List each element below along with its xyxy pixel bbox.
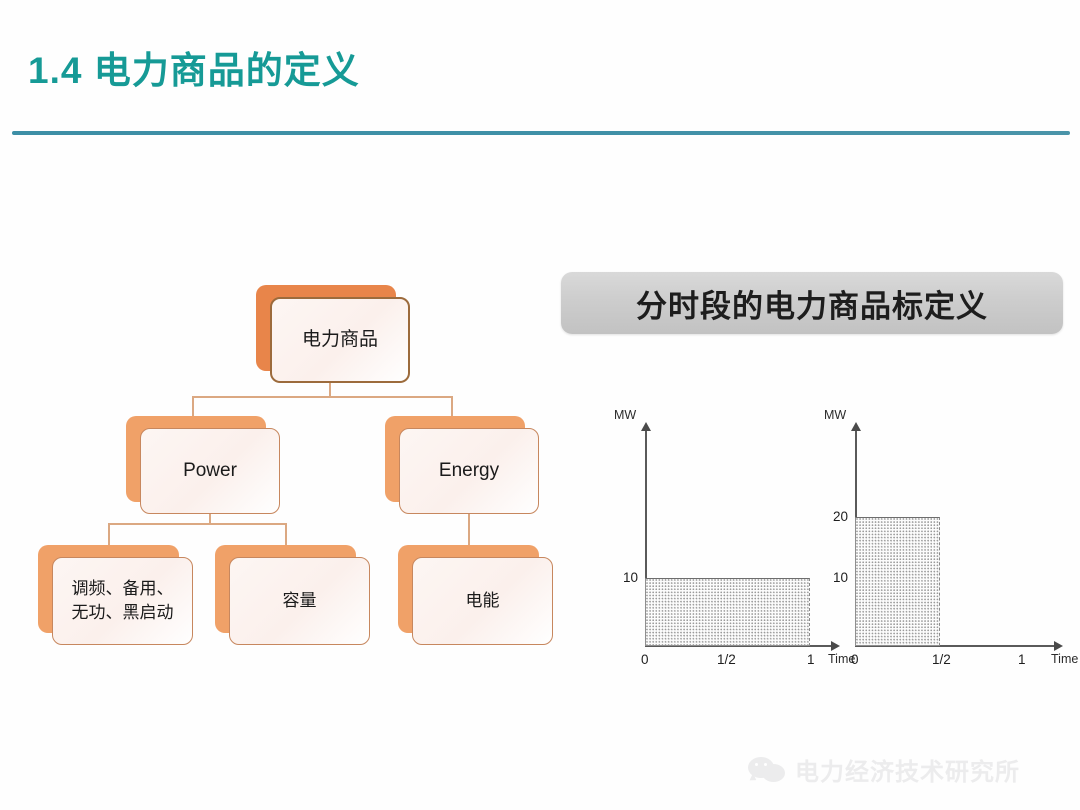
connector-level3-bar-power [108,523,286,525]
node-face: 调频、备用、 无功、黑启动 [52,557,193,645]
connector-to-ancillary [108,523,110,547]
slide-canvas: 1.4 电力商品的定义 电力商品 Power [0,0,1080,810]
wechat-icon [748,757,786,783]
org-tree-diagram: 电力商品 Power Energy 调频、备用、 无功、黑启动 [0,0,600,810]
chart2-y-axis-arrow-icon [851,422,861,431]
chart1-y-axis-arrow-icon [641,422,651,431]
tree-node-electric-energy[interactable]: 电能 [398,545,539,633]
node-face: Power [140,428,280,514]
chart2-x-axis-label: Time [1051,652,1078,666]
tree-node-root[interactable]: 电力商品 [256,285,396,371]
chart2-y-tick-10: 10 [833,570,848,585]
tree-node-energy[interactable]: Energy [385,416,525,502]
tree-node-ancillary-services[interactable]: 调频、备用、 无功、黑启动 [38,545,179,633]
tree-node-electric-energy-label: 电能 [466,589,500,613]
right-panel-heading: 分时段的电力商品标定义 [561,272,1063,334]
connector-level2-bar [192,396,452,398]
ancillary-line-1: 调频、备用、 [72,579,174,598]
tree-node-power[interactable]: Power [126,416,266,502]
tree-node-capacity-label: 容量 [283,589,317,613]
chart-peak-power: MW Time 10 20 0 1/2 1 [810,400,1070,680]
node-face: 容量 [229,557,370,645]
wechat-bubble-small [762,764,785,782]
connector-to-electric-energy [468,510,470,547]
chart1-x-tick-half: 1/2 [717,652,736,667]
node-face: 电能 [412,557,553,645]
tree-node-capacity[interactable]: 容量 [215,545,356,633]
chart2-bar-0 [855,517,940,646]
chart2-x-tick-1: 1 [1018,652,1026,667]
chart2-x-axis-arrow-icon [1054,641,1063,651]
tree-node-root-label: 电力商品 [302,327,378,354]
chart2-y-tick-20: 20 [833,509,848,524]
node-face: Energy [399,428,539,514]
chart2-x-tick-0: 0 [851,652,859,667]
ancillary-line-2: 无功、黑启动 [72,603,174,622]
tree-node-ancillary-services-label: 调频、备用、 无功、黑启动 [72,577,174,625]
connector-to-capacity [285,523,287,547]
chart1-y-axis-label: MW [614,408,636,422]
chart1-y-tick-10: 10 [623,570,638,585]
node-face: 电力商品 [270,297,410,383]
tree-node-energy-label: Energy [439,458,499,485]
chart1-bar-0 [645,578,810,646]
tree-node-power-label: Power [183,458,237,485]
chart2-y-axis-label: MW [824,408,846,422]
watermark-text: 电力经济技术研究所 [795,752,1020,787]
chart1-x-tick-0: 0 [641,652,649,667]
watermark: 电力经济技术研究所 [748,752,1020,787]
chart2-x-tick-half: 1/2 [932,652,951,667]
